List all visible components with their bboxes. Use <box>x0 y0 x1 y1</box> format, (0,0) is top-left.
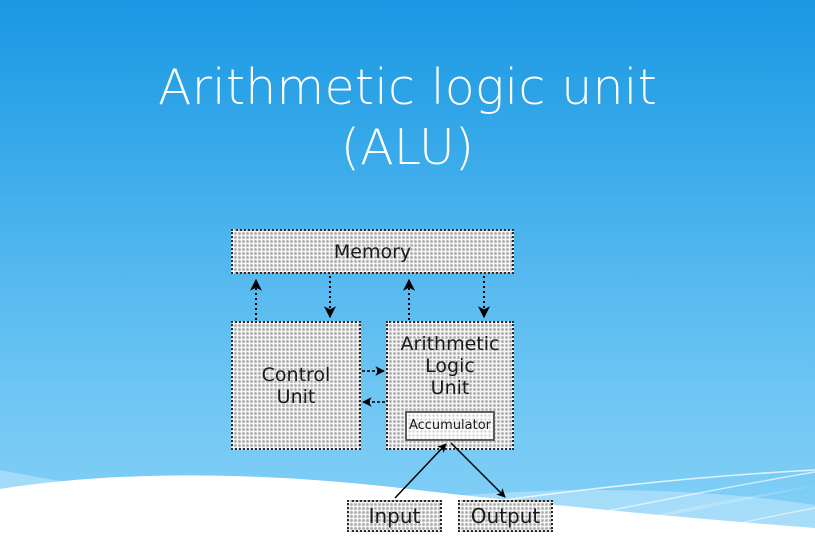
page-title: Arithmetic logic unit (ALU) <box>0 58 815 178</box>
slide-canvas: Arithmetic logic unit (ALU) Memory Contr… <box>0 0 815 551</box>
diagram-box-arithmetic-logic-unit: Arithmetic Logic Unit Accumulator <box>386 321 514 450</box>
diagram-box-input: Input <box>347 500 442 532</box>
control-unit-label: Control Unit <box>262 364 331 408</box>
input-label: Input <box>369 505 421 527</box>
memory-label: Memory <box>334 241 411 263</box>
diagram-box-control-unit: Control Unit <box>231 321 361 450</box>
output-label: Output <box>471 505 540 527</box>
accumulator-label: Accumulator <box>409 415 491 437</box>
diagram-box-memory: Memory <box>231 229 514 274</box>
diagram-box-accumulator: Accumulator <box>405 411 495 441</box>
alu-label: Arithmetic Logic Unit <box>388 333 512 399</box>
diagram-box-output: Output <box>458 500 553 532</box>
